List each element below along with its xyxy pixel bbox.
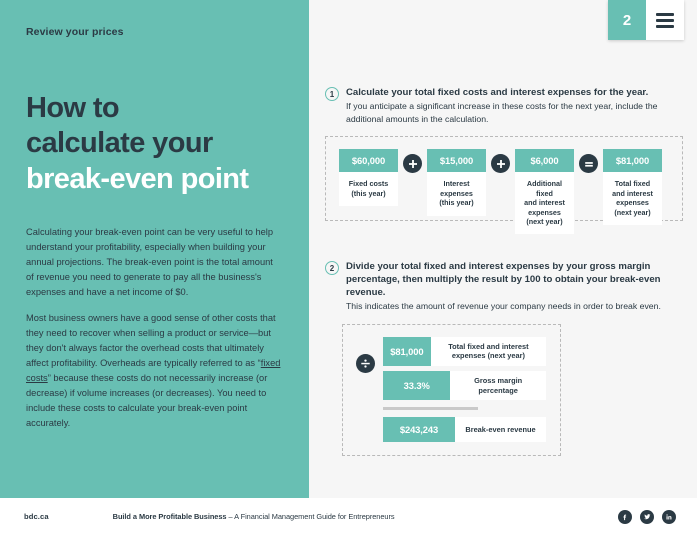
formula-term: $6,000 Additional fixed and interest exp…	[515, 149, 574, 234]
term-label: Fixed costs (this year)	[339, 172, 398, 206]
facebook-icon[interactable]	[618, 510, 632, 524]
right-steps-panel: 2 1 Calculate your total fixed costs and…	[309, 0, 697, 498]
intro-paragraph-2-part-a: Most business owners have a good sense o…	[26, 313, 276, 368]
page-footer: bdc.ca Build a More Profitable Business …	[0, 498, 697, 535]
formula-term: $15,000 Interest expenses (this year)	[427, 149, 486, 215]
social-links	[618, 510, 676, 524]
step-1-title: Calculate your total fixed costs and int…	[346, 86, 683, 99]
step-1-heading: 1 Calculate your total fixed costs and i…	[325, 86, 683, 125]
hamburger-bar	[656, 13, 674, 16]
page-title-line-2: calculate your	[26, 126, 283, 162]
division-formula: $81,000 Total fixed and interest expense…	[356, 337, 546, 443]
step-1-subtitle: If you anticipate a significant increase…	[346, 100, 683, 125]
result-row: $243,243 Break-even revenue	[383, 417, 546, 442]
term-amount: $6,000	[515, 149, 574, 172]
term-label: Additional fixed and interest expenses (…	[515, 172, 574, 234]
term-amount: $60,000	[339, 149, 398, 172]
step-2-subtitle: This indicates the amount of revenue you…	[346, 300, 683, 313]
footer-site-link[interactable]: bdc.ca	[24, 512, 49, 521]
result-value: $243,243	[383, 417, 455, 442]
page-root: Review your prices How to calculate your…	[0, 0, 697, 535]
twitter-icon[interactable]	[640, 510, 654, 524]
page-title: How to calculate your break-even point	[26, 91, 283, 198]
step-1: 1 Calculate your total fixed costs and i…	[325, 86, 683, 221]
divisor-label: Gross margin percentage	[450, 371, 546, 400]
formula-chain: $60,000 Fixed costs (this year) $15,000 …	[339, 149, 662, 234]
divisor-value: 33.3%	[383, 371, 450, 400]
dividend-label: Total fixed and interest expenses (next …	[431, 337, 546, 366]
linkedin-icon[interactable]	[662, 510, 676, 524]
dividend-row: $81,000 Total fixed and interest expense…	[383, 337, 546, 366]
intro-paragraph-2-part-b: ” because these costs do not necessarily…	[26, 373, 267, 428]
intro-paragraph-2: Most business owners have a good sense o…	[26, 311, 283, 431]
page-title-line-3: break-even point	[26, 162, 283, 198]
step-2-number-badge: 2	[325, 261, 339, 275]
divisor-row: 33.3% Gross margin percentage	[383, 371, 546, 400]
term-label: Interest expenses (this year)	[427, 172, 486, 215]
formula-term: $81,000 Total fixed and interest expense…	[603, 149, 662, 224]
intro-paragraph-1: Calculating your break-even point can be…	[26, 225, 283, 300]
intro-body: Calculating your break-even point can be…	[26, 225, 283, 432]
term-label: Total fixed and interest expenses (next …	[603, 172, 662, 224]
term-amount: $81,000	[603, 149, 662, 172]
result-divider	[383, 407, 478, 410]
divide-icon	[356, 354, 375, 373]
page-title-line-1: How to	[26, 91, 283, 127]
dividend-value: $81,000	[383, 337, 431, 366]
page-number-badge: 2	[608, 0, 646, 40]
step-2: 2 Divide your total fixed and interest e…	[325, 260, 683, 456]
plus-icon	[491, 154, 510, 173]
plus-icon	[403, 154, 422, 173]
step-1-number-badge: 1	[325, 87, 339, 101]
equals-icon	[579, 154, 598, 173]
left-intro-panel: Review your prices How to calculate your…	[0, 0, 309, 498]
footer-tagline-rest: – A Financial Management Guide for Entre…	[226, 512, 394, 521]
section-eyebrow: Review your prices	[26, 26, 283, 39]
result-label: Break-even revenue	[455, 417, 546, 442]
division-rows: $81,000 Total fixed and interest expense…	[383, 337, 546, 443]
step-2-heading: 2 Divide your total fixed and interest e…	[325, 260, 683, 313]
step-2-title: Divide your total fixed and interest exp…	[346, 260, 683, 299]
hamburger-bar	[656, 25, 674, 28]
page-topbar: 2	[608, 0, 684, 40]
footer-tagline-bold: Build a More Profitable Business	[113, 512, 227, 521]
term-amount: $15,000	[427, 149, 486, 172]
hamburger-bar	[656, 19, 674, 22]
break-even-formula-box: $81,000 Total fixed and interest expense…	[342, 324, 561, 457]
hamburger-menu-icon[interactable]	[646, 0, 684, 40]
footer-tagline: Build a More Profitable Business – A Fin…	[113, 512, 395, 521]
fixed-cost-formula-box: $60,000 Fixed costs (this year) $15,000 …	[325, 136, 683, 221]
formula-term: $60,000 Fixed costs (this year)	[339, 149, 398, 206]
